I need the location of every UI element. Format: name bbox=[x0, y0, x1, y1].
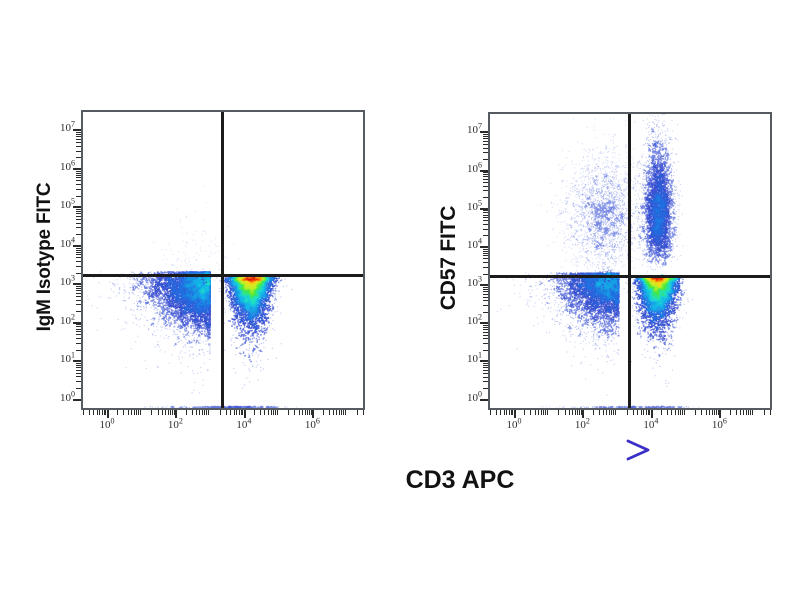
x-tick-mark-minor bbox=[264, 410, 265, 415]
y-tick-mark-minor bbox=[76, 254, 81, 255]
x-tick-mark-minor bbox=[581, 410, 582, 415]
x-tick-label: 104 bbox=[631, 419, 671, 431]
y-tick-mark-major bbox=[480, 360, 488, 362]
y-tick-mark-minor bbox=[76, 290, 81, 291]
y-tick-mark-major bbox=[73, 129, 81, 131]
y-tick-mark-major bbox=[73, 245, 81, 247]
x-tick-mark-minor bbox=[174, 410, 175, 415]
y-tick-mark-minor bbox=[483, 152, 488, 153]
y-tick-mark-minor bbox=[483, 249, 488, 250]
y-tick-mark-minor bbox=[76, 350, 81, 351]
x-tick-mark-minor bbox=[606, 410, 607, 415]
y-tick-mark-minor bbox=[483, 159, 488, 160]
x-tick-mark-minor bbox=[684, 410, 685, 415]
x-tick-mark-major bbox=[244, 410, 246, 418]
y-tick-mark-minor bbox=[483, 186, 488, 187]
x-tick-mark-minor bbox=[170, 410, 171, 415]
y-tick-mark-minor bbox=[76, 367, 81, 368]
x-tick-mark-minor bbox=[271, 410, 272, 415]
x-tick-mark-minor bbox=[131, 410, 132, 415]
y-tick-mark-minor bbox=[76, 223, 81, 224]
x-tick-mark-minor bbox=[512, 410, 513, 415]
quadrant-gate-vertical-left[interactable] bbox=[221, 112, 224, 408]
x-tick-label: 106 bbox=[292, 419, 332, 431]
shared-x-axis-label-cd3-apc: CD3 APC bbox=[250, 466, 670, 495]
x-tick-mark-minor bbox=[123, 410, 124, 415]
y-tick-label: 104 bbox=[45, 238, 75, 250]
y-tick-mark-minor bbox=[483, 291, 488, 292]
y-tick-mark-minor bbox=[483, 235, 488, 236]
y-tick-mark-major bbox=[73, 399, 81, 401]
x-tick-label: 106 bbox=[699, 419, 739, 431]
x-tick-mark-minor bbox=[718, 410, 719, 415]
y-tick-mark-minor bbox=[76, 171, 81, 172]
x-tick-mark-minor bbox=[333, 410, 334, 415]
x-tick-mark-minor bbox=[712, 410, 713, 415]
x-tick-mark-minor bbox=[530, 410, 531, 415]
y-tick-mark-minor bbox=[76, 388, 81, 389]
x-tick-label: 104 bbox=[224, 419, 264, 431]
x-tick-mark-minor bbox=[151, 410, 152, 415]
x-tick-mark-minor bbox=[740, 410, 741, 415]
plot-area-right[interactable] bbox=[488, 112, 772, 410]
x-tick-mark-minor bbox=[661, 410, 662, 415]
y-tick-mark-major bbox=[73, 360, 81, 362]
x-tick-mark-minor bbox=[158, 410, 159, 415]
x-tick-mark-minor bbox=[701, 410, 702, 415]
y-tick-label: 101 bbox=[452, 353, 482, 365]
x-tick-mark-minor bbox=[134, 410, 135, 415]
x-tick-mark-minor bbox=[603, 410, 604, 415]
y-tick-mark-minor bbox=[76, 266, 81, 267]
y-tick-mark-major bbox=[73, 283, 81, 285]
y-tick-mark-minor bbox=[76, 370, 81, 371]
x-tick-mark-minor bbox=[627, 410, 628, 415]
y-tick-mark-minor bbox=[76, 365, 81, 366]
y-tick-label: 106 bbox=[45, 161, 75, 173]
quadrant-gate-horizontal-right[interactable] bbox=[490, 275, 770, 278]
y-tick-mark-minor bbox=[76, 196, 81, 197]
x-tick-mark-major bbox=[582, 410, 584, 418]
y-tick-mark-minor bbox=[483, 294, 488, 295]
y-tick-mark-minor bbox=[483, 363, 488, 364]
x-tick-mark-minor bbox=[294, 410, 295, 415]
y-tick-mark-minor bbox=[76, 151, 81, 152]
x-tick-mark-minor bbox=[743, 410, 744, 415]
y-tick-mark-minor bbox=[76, 373, 81, 374]
y-tick-mark-minor bbox=[76, 261, 81, 262]
x-tick-mark-minor bbox=[504, 410, 505, 415]
y-tick-mark-major bbox=[480, 322, 488, 324]
cd3-apc-arrow-icon bbox=[250, 435, 670, 465]
x-tick-mark-minor bbox=[748, 410, 749, 415]
y-tick-mark-minor bbox=[76, 211, 81, 212]
y-tick-mark-minor bbox=[76, 331, 81, 332]
x-tick-mark-minor bbox=[254, 410, 255, 415]
x-tick-mark-minor bbox=[569, 410, 570, 415]
y-tick-mark-minor bbox=[76, 234, 81, 235]
y-tick-mark-major bbox=[480, 208, 488, 210]
y-tick-mark-minor bbox=[483, 258, 488, 259]
y-tick-mark-minor bbox=[483, 370, 488, 371]
y-tick-mark-minor bbox=[483, 141, 488, 142]
y-axis-title-igm-isotype-fitc: IgM Isotype FITC bbox=[34, 97, 56, 417]
x-tick-mark-minor bbox=[558, 410, 559, 415]
y-tick-mark-minor bbox=[76, 173, 81, 174]
x-tick-mark-minor bbox=[643, 410, 644, 415]
x-tick-mark-minor bbox=[695, 410, 696, 415]
x-tick-mark-minor bbox=[633, 410, 634, 415]
x-tick-mark-minor bbox=[538, 410, 539, 415]
y-tick-mark-minor bbox=[483, 212, 488, 213]
y-tick-mark-minor bbox=[76, 219, 81, 220]
x-tick-mark-minor bbox=[357, 410, 358, 415]
x-tick-mark-minor bbox=[609, 410, 610, 415]
x-tick-mark-major bbox=[312, 410, 314, 418]
x-tick-mark-minor bbox=[575, 410, 576, 415]
x-tick-mark-minor bbox=[277, 410, 278, 415]
x-tick-mark-minor bbox=[83, 410, 84, 415]
x-tick-mark-minor bbox=[140, 410, 141, 415]
x-tick-mark-minor bbox=[345, 410, 346, 415]
y-tick-mark-minor bbox=[76, 326, 81, 327]
y-tick-mark-major bbox=[480, 170, 488, 172]
x-tick-mark-minor bbox=[192, 410, 193, 415]
x-tick-mark-minor bbox=[667, 410, 668, 415]
y-tick-mark-minor bbox=[483, 274, 488, 275]
y-tick-mark-minor bbox=[76, 180, 81, 181]
x-tick-mark-minor bbox=[541, 410, 542, 415]
x-tick-mark-minor bbox=[524, 410, 525, 415]
y-tick-mark-minor bbox=[483, 182, 488, 183]
y-tick-mark-minor bbox=[483, 381, 488, 382]
x-tick-mark-minor bbox=[299, 410, 300, 415]
x-tick-mark-minor bbox=[204, 410, 205, 415]
y-tick-mark-minor bbox=[76, 252, 81, 253]
y-tick-mark-minor bbox=[483, 220, 488, 221]
y-tick-mark-minor bbox=[483, 215, 488, 216]
y-tick-mark-minor bbox=[76, 139, 81, 140]
y-tick-mark-minor bbox=[483, 251, 488, 252]
y-tick-mark-minor bbox=[76, 311, 81, 312]
y-tick-mark-minor bbox=[483, 253, 488, 254]
y-tick-label: 103 bbox=[452, 277, 482, 289]
y-tick-mark-minor bbox=[76, 184, 81, 185]
y-tick-mark-minor bbox=[483, 148, 488, 149]
x-tick-mark-minor bbox=[637, 410, 638, 415]
x-tick-mark-minor bbox=[302, 410, 303, 415]
y-tick-mark-major bbox=[480, 284, 488, 286]
y-tick-label: 105 bbox=[452, 201, 482, 213]
y-tick-mark-minor bbox=[483, 338, 488, 339]
y-tick-mark-minor bbox=[483, 174, 488, 175]
x-tick-mark-minor bbox=[273, 410, 274, 415]
y-tick-label: 107 bbox=[45, 122, 75, 134]
y-tick-mark-minor bbox=[76, 146, 81, 147]
x-tick-mark-minor bbox=[105, 410, 106, 415]
x-tick-mark-minor bbox=[678, 410, 679, 415]
x-tick-label: 102 bbox=[562, 419, 602, 431]
x-tick-mark-minor bbox=[577, 410, 578, 415]
flow-cytometry-figure: IgM Isotype FITC 10010110210310410510610… bbox=[0, 0, 800, 600]
y-tick-mark-minor bbox=[76, 227, 81, 228]
y-tick-label: 100 bbox=[452, 392, 482, 404]
x-tick-mark-minor bbox=[89, 410, 90, 415]
y-tick-mark-minor bbox=[76, 381, 81, 382]
y-tick-mark-minor bbox=[76, 293, 81, 294]
x-tick-mark-minor bbox=[736, 410, 737, 415]
y-tick-mark-major bbox=[73, 168, 81, 170]
x-tick-mark-minor bbox=[671, 410, 672, 415]
x-tick-mark-minor bbox=[543, 410, 544, 415]
y-tick-mark-minor bbox=[483, 332, 488, 333]
y-tick-mark-minor bbox=[483, 210, 488, 211]
y-tick-mark-minor bbox=[76, 248, 81, 249]
x-tick-mark-minor bbox=[500, 410, 501, 415]
y-tick-mark-minor bbox=[76, 142, 81, 143]
y-tick-mark-minor bbox=[483, 179, 488, 180]
x-tick-mark-major bbox=[651, 410, 653, 418]
x-tick-mark-minor bbox=[336, 410, 337, 415]
y-tick-mark-minor bbox=[76, 288, 81, 289]
y-tick-mark-minor bbox=[483, 329, 488, 330]
x-tick-mark-minor bbox=[305, 410, 306, 415]
x-tick-mark-minor bbox=[99, 410, 100, 415]
y-tick-mark-minor bbox=[483, 136, 488, 137]
y-tick-mark-minor bbox=[76, 257, 81, 258]
x-tick-mark-major bbox=[107, 410, 109, 418]
y-tick-mark-minor bbox=[483, 343, 488, 344]
y-tick-label: 107 bbox=[452, 124, 482, 136]
x-tick-mark-minor bbox=[490, 410, 491, 415]
y-tick-mark-minor bbox=[76, 250, 81, 251]
x-tick-mark-minor bbox=[162, 410, 163, 415]
x-tick-mark-minor bbox=[288, 410, 289, 415]
x-tick-mark-minor bbox=[311, 410, 312, 415]
x-tick-mark-minor bbox=[220, 410, 221, 415]
y-tick-mark-major bbox=[480, 399, 488, 401]
y-tick-mark-minor bbox=[76, 363, 81, 364]
y-tick-mark-minor bbox=[76, 216, 81, 217]
y-tick-mark-major bbox=[480, 246, 488, 248]
y-tick-mark-minor bbox=[76, 213, 81, 214]
x-tick-mark-minor bbox=[680, 410, 681, 415]
y-tick-mark-minor bbox=[483, 267, 488, 268]
y-tick-label: 105 bbox=[45, 199, 75, 211]
x-tick-mark-minor bbox=[752, 410, 753, 415]
y-tick-mark-minor bbox=[483, 138, 488, 139]
x-tick-mark-minor bbox=[242, 410, 243, 415]
y-tick-mark-minor bbox=[76, 343, 81, 344]
y-tick-mark-minor bbox=[483, 287, 488, 288]
x-tick-mark-minor bbox=[102, 410, 103, 415]
y-tick-mark-minor bbox=[76, 209, 81, 210]
x-tick-mark-minor bbox=[770, 410, 771, 415]
y-axis-title-cd57-fitc: CD57 FITC bbox=[437, 99, 461, 417]
y-tick-mark-minor bbox=[483, 373, 488, 374]
x-tick-mark-major bbox=[514, 410, 516, 418]
x-tick-mark-minor bbox=[260, 410, 261, 415]
x-tick-mark-minor bbox=[199, 410, 200, 415]
x-tick-mark-major bbox=[175, 410, 177, 418]
y-tick-mark-minor bbox=[483, 255, 488, 256]
y-tick-mark-minor bbox=[76, 273, 81, 274]
y-tick-mark-minor bbox=[483, 300, 488, 301]
y-tick-mark-minor bbox=[483, 262, 488, 263]
y-tick-mark-minor bbox=[483, 312, 488, 313]
y-tick-mark-minor bbox=[76, 189, 81, 190]
y-tick-mark-minor bbox=[483, 305, 488, 306]
y-tick-mark-minor bbox=[483, 197, 488, 198]
y-tick-mark-minor bbox=[76, 334, 81, 335]
x-tick-mark-minor bbox=[509, 410, 510, 415]
y-tick-mark-minor bbox=[76, 338, 81, 339]
y-tick-label: 106 bbox=[452, 163, 482, 175]
x-tick-label: 100 bbox=[494, 419, 534, 431]
y-tick-mark-minor bbox=[76, 324, 81, 325]
x-tick-mark-minor bbox=[709, 410, 710, 415]
y-tick-mark-minor bbox=[483, 388, 488, 389]
y-tick-mark-minor bbox=[483, 134, 488, 135]
y-tick-mark-minor bbox=[483, 229, 488, 230]
x-tick-mark-minor bbox=[675, 410, 676, 415]
x-tick-mark-minor bbox=[234, 410, 235, 415]
x-tick-mark-minor bbox=[593, 410, 594, 415]
x-tick-mark-minor bbox=[208, 410, 209, 415]
x-tick-mark-minor bbox=[764, 410, 765, 415]
y-tick-label: 102 bbox=[45, 315, 75, 327]
x-tick-mark-minor bbox=[496, 410, 497, 415]
x-tick-label: 100 bbox=[87, 419, 127, 431]
x-tick-mark-minor bbox=[117, 410, 118, 415]
y-tick-mark-minor bbox=[483, 335, 488, 336]
x-tick-mark-minor bbox=[186, 410, 187, 415]
y-tick-mark-minor bbox=[76, 300, 81, 301]
x-tick-mark-minor bbox=[599, 410, 600, 415]
y-tick-mark-minor bbox=[76, 175, 81, 176]
y-tick-label: 102 bbox=[452, 315, 482, 327]
x-tick-mark-minor bbox=[339, 410, 340, 415]
y-tick-mark-minor bbox=[76, 376, 81, 377]
y-tick-mark-minor bbox=[483, 365, 488, 366]
y-tick-mark-minor bbox=[76, 177, 81, 178]
x-tick-mark-minor bbox=[547, 410, 548, 415]
x-tick-mark-minor bbox=[363, 410, 364, 415]
x-tick-mark-minor bbox=[649, 410, 650, 415]
x-tick-mark-minor bbox=[565, 410, 566, 415]
x-tick-mark-minor bbox=[641, 410, 642, 415]
x-tick-mark-minor bbox=[714, 410, 715, 415]
y-tick-mark-minor bbox=[483, 176, 488, 177]
quadrant-gate-vertical-right[interactable] bbox=[628, 114, 631, 408]
x-tick-mark-minor bbox=[611, 410, 612, 415]
x-tick-mark-minor bbox=[128, 410, 129, 415]
x-tick-mark-minor bbox=[268, 410, 269, 415]
y-tick-mark-minor bbox=[76, 134, 81, 135]
y-tick-mark-minor bbox=[76, 304, 81, 305]
quadrant-gate-horizontal-left[interactable] bbox=[83, 274, 363, 277]
x-tick-mark-minor bbox=[730, 410, 731, 415]
y-tick-mark-major bbox=[73, 206, 81, 208]
x-tick-mark-minor bbox=[535, 410, 536, 415]
x-tick-mark-major bbox=[719, 410, 721, 418]
x-tick-mark-minor bbox=[506, 410, 507, 415]
y-tick-mark-minor bbox=[483, 325, 488, 326]
y-tick-mark-minor bbox=[76, 296, 81, 297]
y-tick-mark-major bbox=[73, 322, 81, 324]
y-tick-mark-minor bbox=[76, 132, 81, 133]
y-tick-mark-minor bbox=[483, 190, 488, 191]
x-tick-mark-minor bbox=[202, 410, 203, 415]
x-tick-mark-minor bbox=[97, 410, 98, 415]
y-tick-mark-minor bbox=[483, 377, 488, 378]
x-tick-mark-minor bbox=[136, 410, 137, 415]
x-tick-mark-minor bbox=[165, 410, 166, 415]
x-tick-mark-minor bbox=[572, 410, 573, 415]
x-tick-mark-minor bbox=[323, 410, 324, 415]
y-tick-label: 101 bbox=[45, 353, 75, 365]
x-tick-mark-minor bbox=[230, 410, 231, 415]
plot-area-left[interactable] bbox=[81, 110, 365, 410]
y-tick-mark-major bbox=[480, 131, 488, 133]
y-tick-mark-minor bbox=[76, 286, 81, 287]
x-tick-mark-minor bbox=[226, 410, 227, 415]
x-tick-mark-minor bbox=[239, 410, 240, 415]
x-tick-mark-minor bbox=[307, 410, 308, 415]
y-tick-mark-minor bbox=[483, 217, 488, 218]
y-tick-label: 103 bbox=[45, 276, 75, 288]
x-tick-mark-minor bbox=[615, 410, 616, 415]
y-tick-mark-minor bbox=[483, 289, 488, 290]
y-tick-mark-minor bbox=[483, 224, 488, 225]
x-tick-mark-minor bbox=[706, 410, 707, 415]
x-tick-mark-minor bbox=[746, 410, 747, 415]
x-tick-mark-minor bbox=[168, 410, 169, 415]
y-tick-mark-minor bbox=[76, 157, 81, 158]
y-tick-mark-minor bbox=[483, 144, 488, 145]
x-tick-mark-minor bbox=[329, 410, 330, 415]
x-tick-mark-minor bbox=[196, 410, 197, 415]
y-tick-mark-minor bbox=[483, 172, 488, 173]
y-tick-mark-minor bbox=[483, 350, 488, 351]
x-tick-mark-minor bbox=[341, 410, 342, 415]
x-tick-mark-minor bbox=[646, 410, 647, 415]
y-tick-mark-minor bbox=[483, 327, 488, 328]
y-tick-mark-minor bbox=[483, 367, 488, 368]
y-tick-label: 100 bbox=[45, 392, 75, 404]
y-tick-label: 104 bbox=[452, 239, 482, 251]
y-tick-mark-minor bbox=[76, 329, 81, 330]
x-tick-mark-minor bbox=[236, 410, 237, 415]
y-tick-mark-minor bbox=[483, 297, 488, 298]
x-tick-label: 102 bbox=[155, 419, 195, 431]
x-tick-mark-minor bbox=[93, 410, 94, 415]
y-tick-mark-minor bbox=[76, 136, 81, 137]
